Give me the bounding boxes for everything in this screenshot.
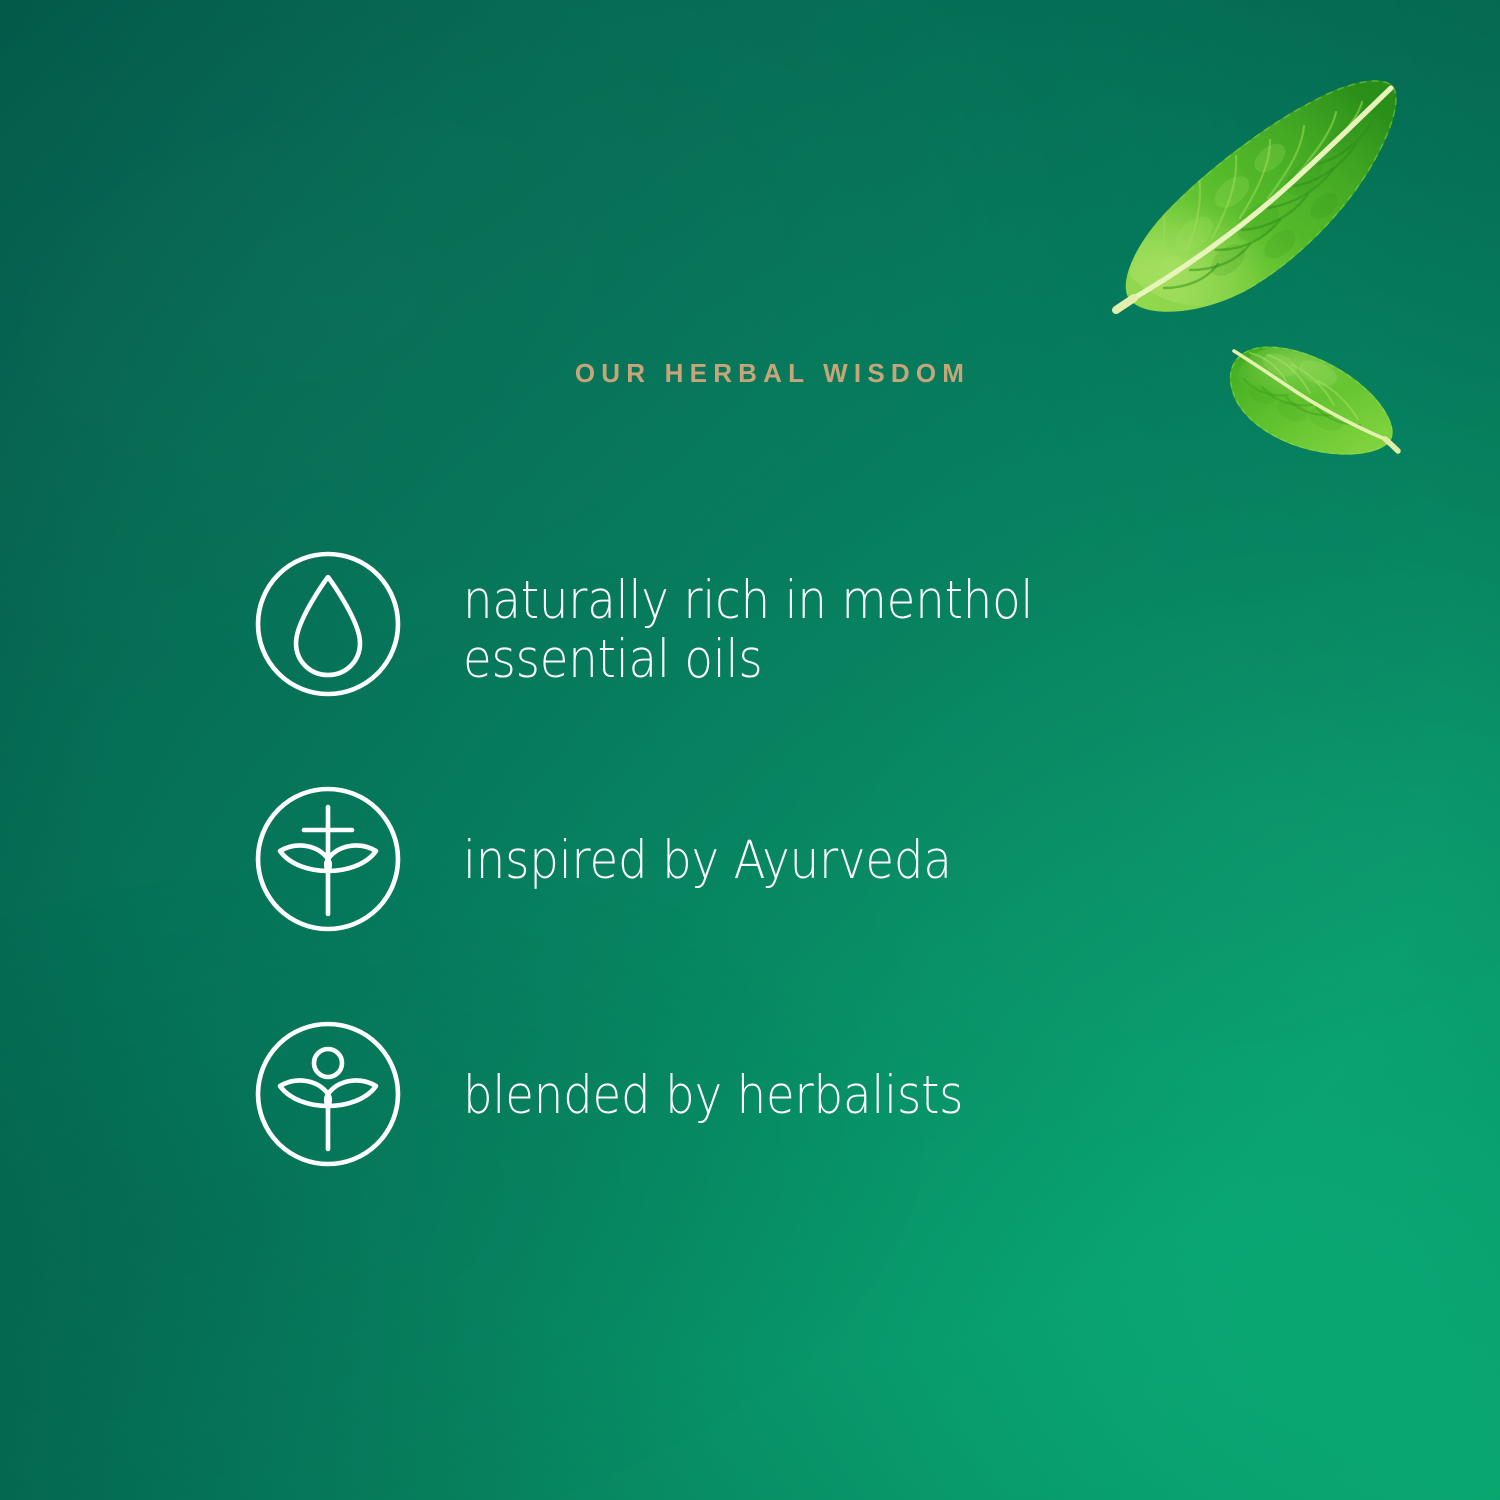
feature-label: blended by herbalists xyxy=(463,1018,963,1125)
mint-leaf-small xyxy=(1222,333,1400,461)
droplet-in-circle-icon xyxy=(252,548,404,700)
bloom-above-leaves-in-circle-icon xyxy=(252,1018,404,1170)
cross-above-leaves-in-circle-icon xyxy=(252,783,404,935)
feature-item-ayurveda: inspired by Ayurveda xyxy=(252,783,1282,935)
mint-leaf-large xyxy=(1108,72,1400,322)
promo-card: OUR HERBAL WISDOM naturally rich in ment… xyxy=(0,0,1500,1500)
section-eyebrow-heading: OUR HERBAL WISDOM xyxy=(0,357,1500,389)
feature-item-herbalists: blended by herbalists xyxy=(252,1018,1282,1170)
feature-label: naturally rich in menthol essential oils xyxy=(463,548,1033,690)
feature-item-menthol-oils: naturally rich in menthol essential oils xyxy=(252,548,1282,700)
feature-label: inspired by Ayurveda xyxy=(463,783,952,890)
feature-list: naturally rich in menthol essential oils xyxy=(252,548,1282,1170)
